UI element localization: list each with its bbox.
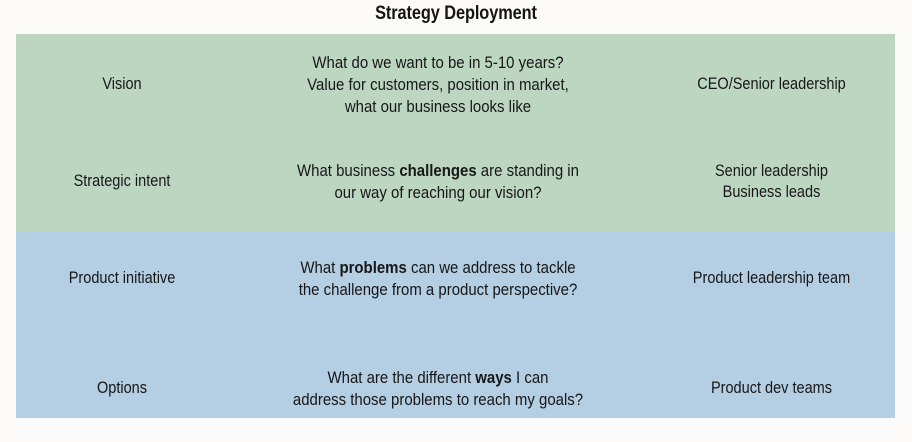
row-label-options: Options [29, 378, 216, 399]
table-row: Options What are the different ways I ca… [16, 332, 895, 418]
strategy-deployment-figure: Strategy Deployment Vision What do we wa… [0, 0, 912, 442]
row-label-vision: Vision [29, 74, 216, 95]
row-question-strategic-intent: What business challenges are standing in… [253, 160, 623, 204]
row-question-vision: What do we want to be in 5-10 years?Valu… [253, 52, 623, 118]
band-product-blue: Product initiative What problems can we … [16, 232, 895, 418]
page-title: Strategy Deployment [64, 3, 848, 25]
row-question-product-initiative: What problems can we address to tackleth… [253, 257, 623, 301]
row-owner-product-initiative: Product leadership team [663, 268, 880, 289]
row-question-options: What are the different ways I canaddress… [253, 367, 623, 411]
table-row: Strategic intent What business challenge… [16, 146, 895, 232]
band-strategy-green: Vision What do we want to be in 5-10 yea… [16, 34, 895, 232]
row-label-strategic-intent: Strategic intent [29, 171, 216, 192]
table-row: Product initiative What problems can we … [16, 232, 895, 332]
row-owner-vision: CEO/Senior leadership [663, 74, 880, 95]
row-owner-strategic-intent: Senior leadershipBusiness leads [663, 161, 880, 204]
table-row: Vision What do we want to be in 5-10 yea… [16, 34, 895, 146]
row-owner-options: Product dev teams [663, 378, 880, 399]
row-label-product-initiative: Product initiative [29, 268, 216, 289]
strategy-matrix: Vision What do we want to be in 5-10 yea… [16, 34, 895, 418]
